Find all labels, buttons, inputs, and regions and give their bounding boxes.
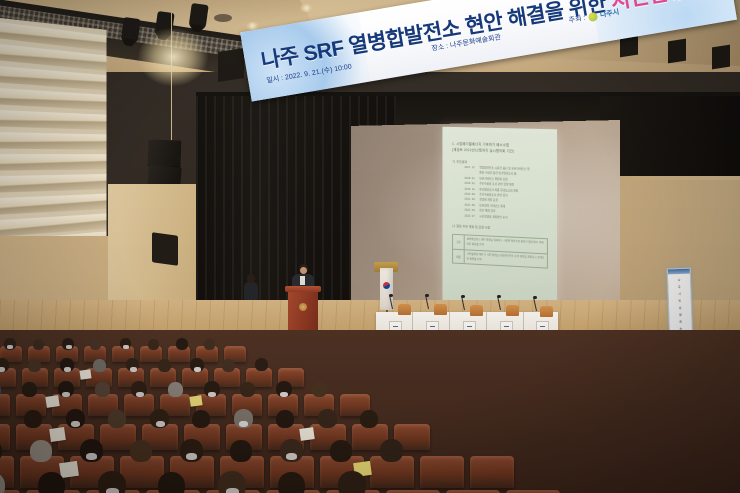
- handout-paper: [299, 427, 315, 441]
- panel-chair: [540, 306, 553, 317]
- microphone-head-icon: [497, 295, 501, 298]
- attendee-head: [158, 359, 171, 372]
- wall-speaker-left: [152, 232, 178, 266]
- stage-attendant-head: [247, 274, 255, 283]
- downlight-6: [470, 44, 482, 52]
- stage-attendant-body: [244, 282, 258, 300]
- attendee-head: [90, 339, 101, 350]
- auditorium-photo: 1. 시립폐기물에너지 기후위기 폐소소협 (재검토 2022년12월까지 실시…: [0, 0, 740, 493]
- microphone-head-icon: [389, 294, 393, 297]
- slide-table: 구분 열병합발전소 현안 해결을 위해서는 시민의 의견수렴 절차가 필요하며,…: [452, 234, 548, 269]
- presenting-official-shirt: [300, 276, 305, 285]
- attendee-head: [192, 410, 210, 428]
- attendee-head: [240, 382, 255, 397]
- attendee-head: [38, 472, 65, 493]
- attendee-head: [95, 382, 110, 397]
- attendee-head: [108, 410, 126, 428]
- panel-chair: [470, 305, 483, 316]
- attendee-head: [158, 472, 185, 493]
- attendee-head: [222, 359, 235, 372]
- downlight-5: [420, 16, 433, 24]
- acoustic-panel-wall: [0, 18, 107, 250]
- podium-top: [285, 286, 321, 292]
- standing-banner-line: 회: [679, 320, 682, 324]
- downlight-4: [358, 30, 371, 38]
- attendee-head: [204, 339, 215, 350]
- podium-emblem-icon: [299, 303, 307, 311]
- ceiling-slot-3: [214, 14, 232, 22]
- slide-heading-line2: (재검토 2022년12월까지 실시협의회 기간): [452, 147, 548, 156]
- standing-banner-line: 설: [679, 306, 682, 310]
- microphone-head-icon: [461, 295, 465, 298]
- attendee-head: [230, 440, 252, 462]
- attendee-head: [278, 472, 305, 493]
- ceiling-speaker-1: [218, 48, 244, 82]
- ceiling-speaker-2: [620, 33, 638, 58]
- attendee-head: [176, 338, 188, 350]
- handout-paper: [79, 369, 91, 379]
- handout-paper: [59, 461, 79, 478]
- attendee-head: [380, 439, 403, 462]
- attendee-head: [148, 339, 159, 350]
- attendee-head: [276, 410, 294, 428]
- standing-banner-line: 주: [678, 285, 681, 289]
- slide-table-text: 시민설명회 개최 후 시민 의견을 수렴하여 향후 추진 방향을 결정하고 관계…: [465, 250, 547, 268]
- panel-chair: [398, 304, 411, 315]
- handout-paper: [45, 395, 59, 408]
- handout-paper: [189, 395, 202, 407]
- attendee-head: [330, 440, 352, 462]
- pendant-lamp: [138, 28, 208, 86]
- attendee-head: [312, 382, 327, 397]
- panel-chair: [506, 305, 519, 316]
- attendee-head: [255, 358, 268, 371]
- attendee-head: [338, 471, 366, 493]
- microphone-head-icon: [425, 294, 429, 297]
- handout-paper: [49, 427, 66, 442]
- attendee-head: [130, 440, 152, 462]
- slide-footer-note: 나. 향후 추진 계획 및 요청 사항: [452, 224, 548, 234]
- ceiling-speaker-4: [712, 45, 730, 70]
- attendee-head: [33, 339, 44, 350]
- standing-banner-line: 시: [678, 292, 681, 296]
- standing-banner-line: 나: [678, 278, 681, 282]
- attendee-head: [93, 359, 106, 372]
- speaker-podium: [288, 289, 318, 335]
- microphone-head-icon: [533, 296, 537, 299]
- attendee-head: [168, 382, 183, 397]
- panel-chair: [434, 304, 447, 315]
- slide-table-label: 내용: [453, 250, 465, 264]
- banner-top-trim: [668, 269, 690, 275]
- downlight-3: [300, 4, 313, 12]
- attendee-head: [28, 359, 41, 372]
- projected-slide: 1. 시립폐기물에너지 기후위기 폐소소협 (재검토 2022년12월까지 실시…: [442, 127, 557, 310]
- ceiling-speaker-3: [668, 39, 686, 64]
- presenting-official-face: [300, 267, 307, 274]
- slide-row-date: 2022. 07.: [452, 213, 475, 219]
- attendee-head: [360, 410, 378, 428]
- attendee-head: [30, 440, 52, 462]
- attendee-head: [24, 410, 42, 428]
- attendee-head: [22, 382, 37, 397]
- slide-table-label: 구분: [453, 235, 465, 249]
- attendee-head: [318, 409, 337, 428]
- audience-seating-area: [0, 330, 740, 493]
- downlight-2: [246, 22, 259, 30]
- stage-curtain-right: [600, 96, 740, 176]
- standing-banner-line: 명: [679, 313, 682, 317]
- taegeuk-icon: [383, 282, 390, 289]
- standing-banner-line: 민: [678, 299, 681, 303]
